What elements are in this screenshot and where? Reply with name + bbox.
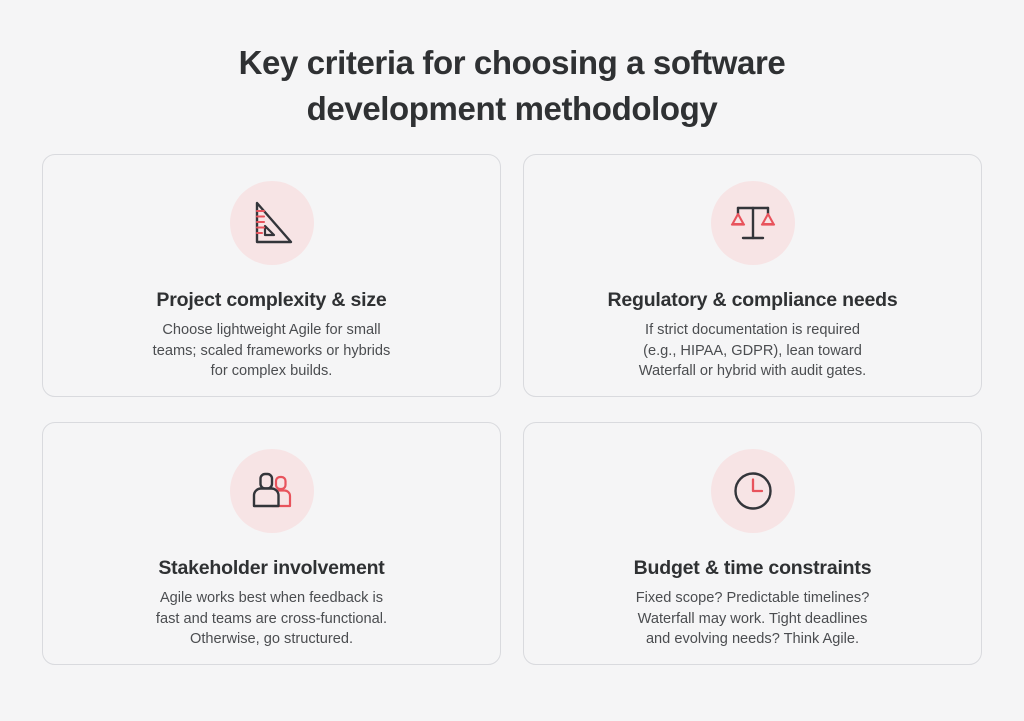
- criteria-card-regulatory-compliance[interactable]: Regulatory & compliance needs If strict …: [523, 154, 982, 397]
- balance-scales-icon: [727, 197, 779, 249]
- icon-badge: [711, 449, 795, 533]
- card-body: Choose lightweight Agile for small teams…: [153, 313, 391, 382]
- infographic-page: Key criteria for choosing a software dev…: [0, 0, 1024, 721]
- criteria-card-project-complexity[interactable]: Project complexity & size Choose lightwe…: [42, 154, 501, 397]
- icon-badge: [230, 449, 314, 533]
- card-body: Agile works best when feedback is fast a…: [156, 581, 387, 650]
- card-title: Project complexity & size: [156, 265, 386, 313]
- clock-icon: [727, 465, 779, 517]
- icon-badge: [230, 181, 314, 265]
- card-title: Stakeholder involvement: [158, 533, 384, 581]
- icon-badge: [711, 181, 795, 265]
- triangle-ruler-icon: [246, 197, 298, 249]
- two-people-icon: [246, 465, 298, 517]
- criteria-card-budget-time[interactable]: Budget & time constraints Fixed scope? P…: [523, 422, 982, 665]
- card-title: Regulatory & compliance needs: [607, 265, 897, 313]
- card-title: Budget & time constraints: [634, 533, 872, 581]
- card-body: If strict documentation is required (e.g…: [639, 313, 866, 382]
- page-title: Key criteria for choosing a software dev…: [0, 0, 1024, 132]
- criteria-card-grid: Project complexity & size Choose lightwe…: [0, 154, 1024, 665]
- card-body: Fixed scope? Predictable timelines? Wate…: [636, 581, 870, 650]
- criteria-card-stakeholder-involvement[interactable]: Stakeholder involvement Agile works best…: [42, 422, 501, 665]
